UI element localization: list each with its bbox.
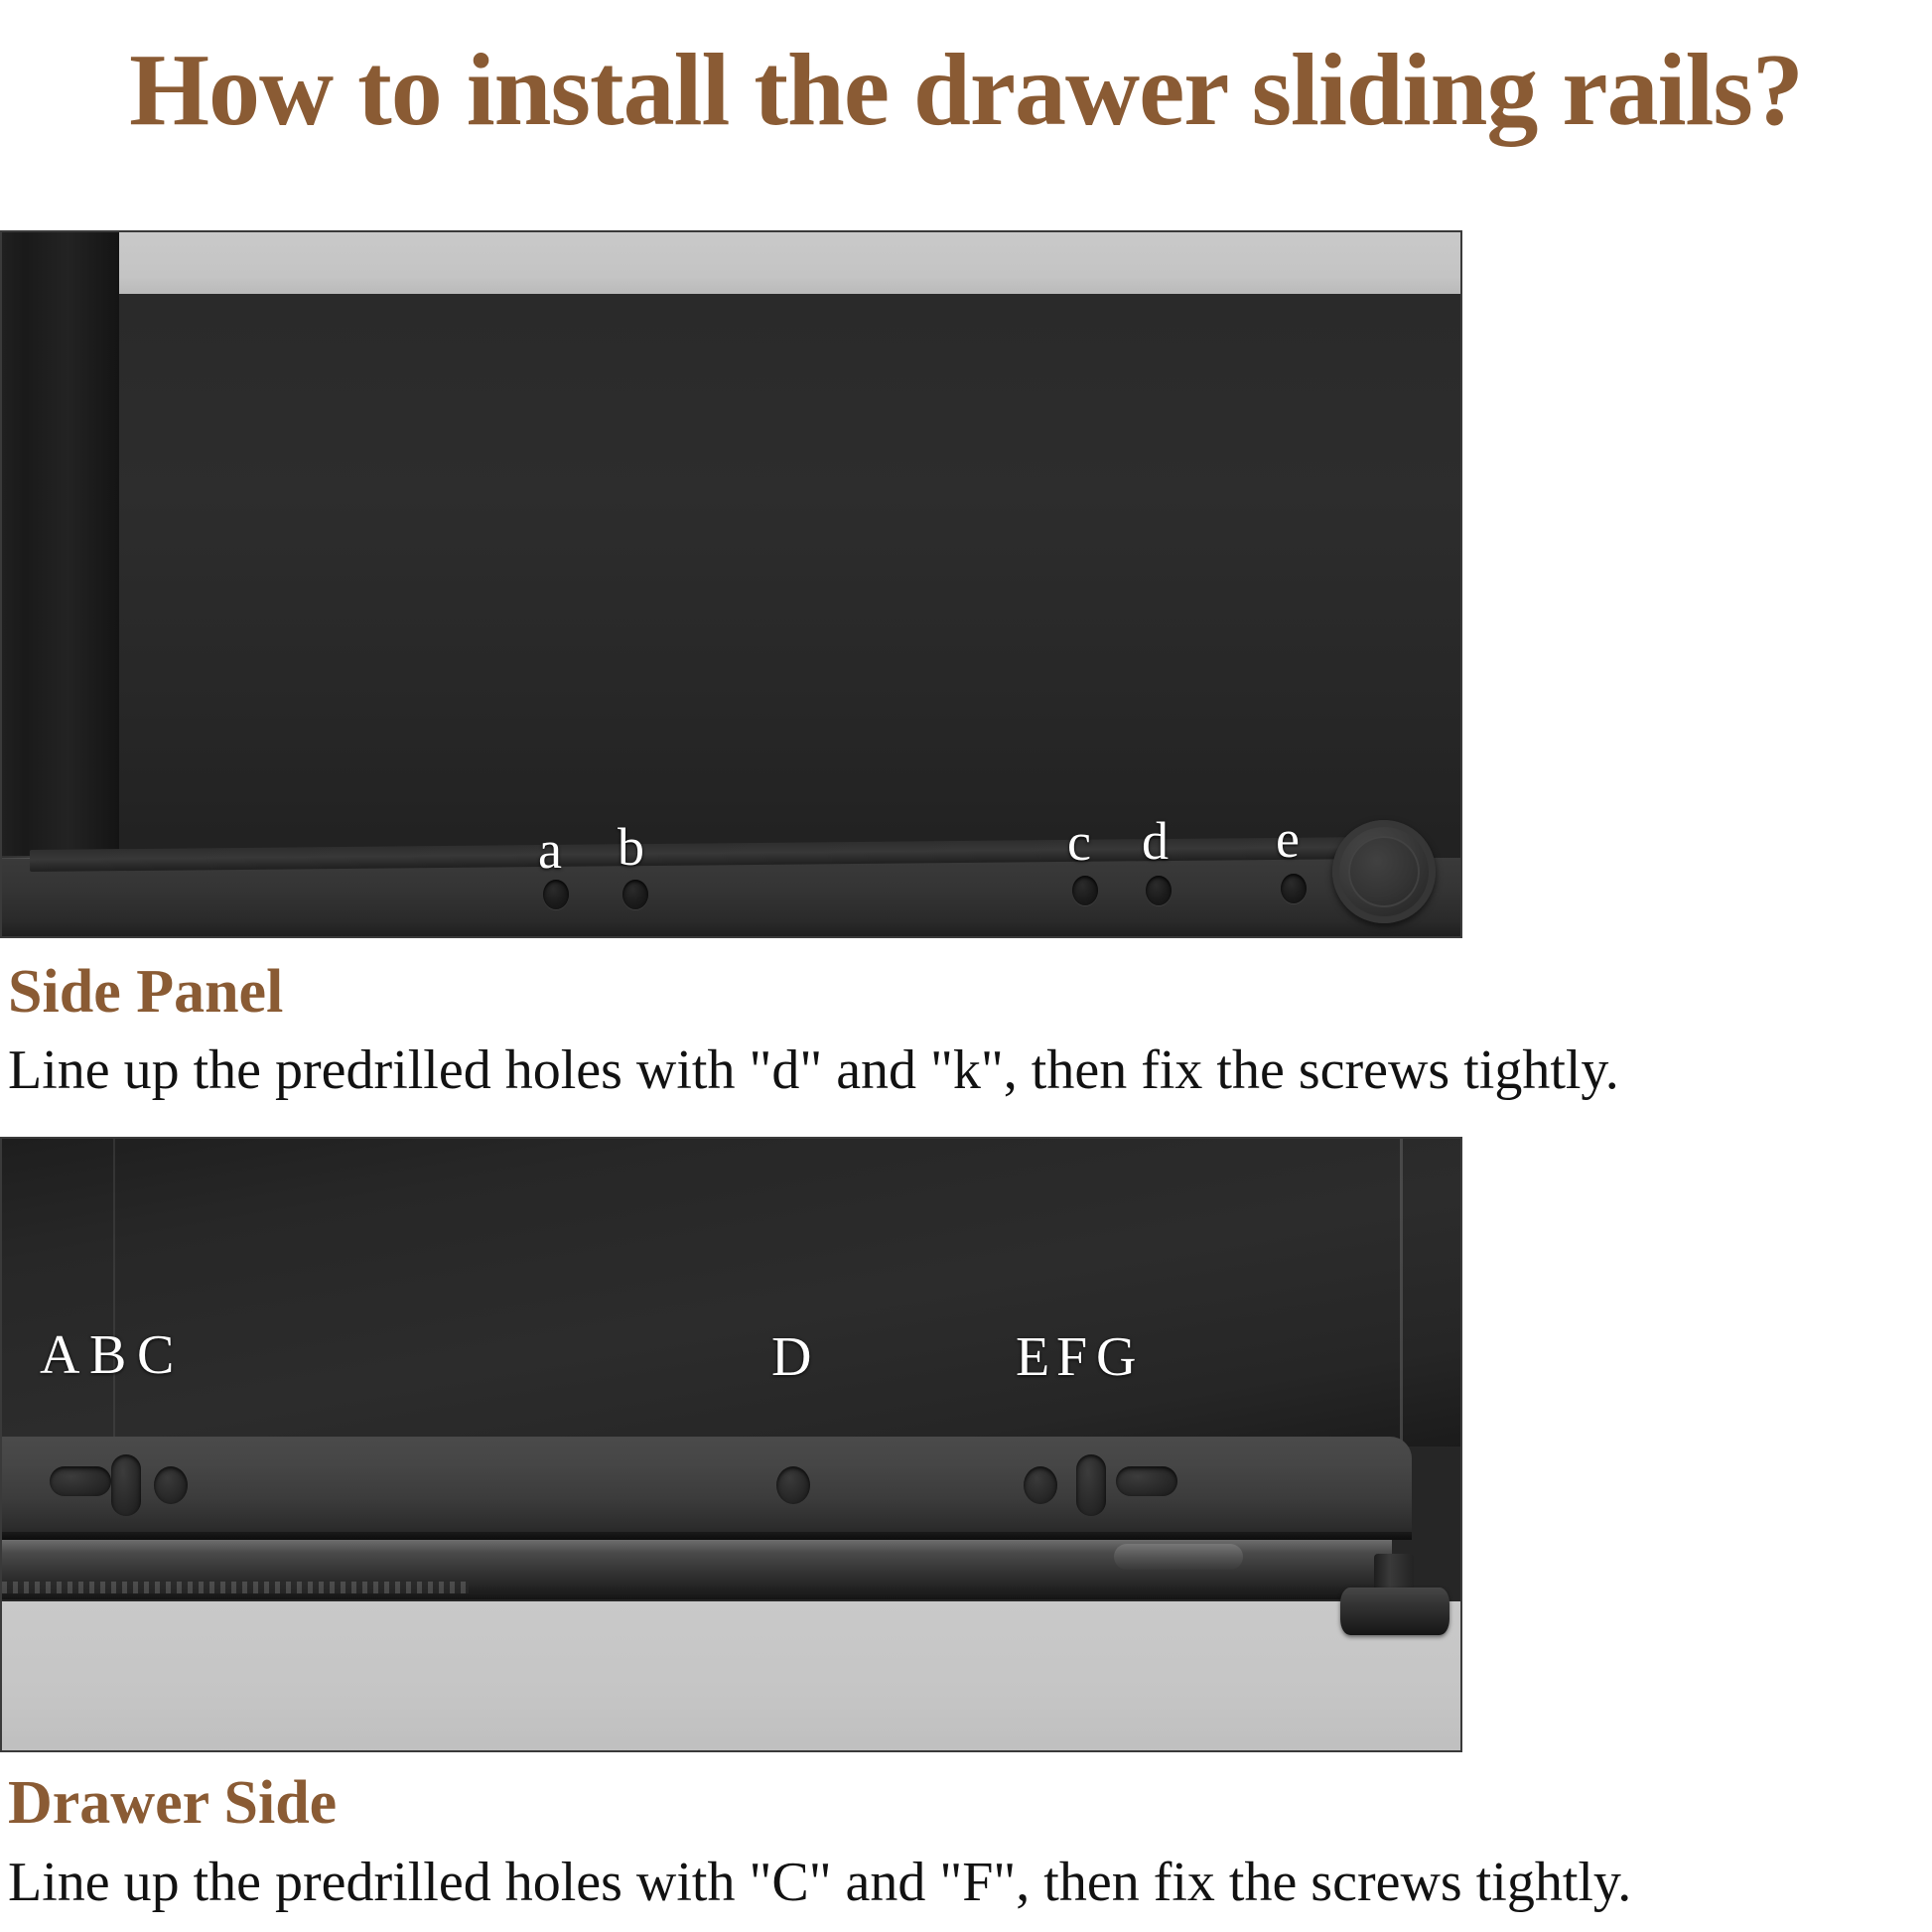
hole-label-A: A bbox=[40, 1327, 79, 1383]
predrilled-hole-B bbox=[111, 1454, 141, 1516]
predrilled-hole-c bbox=[1072, 876, 1098, 905]
predrilled-hole-a bbox=[543, 880, 569, 909]
hole-label-G: G bbox=[1096, 1329, 1136, 1385]
hole-label-b: b bbox=[618, 820, 644, 874]
bracket-shadow-line bbox=[2, 1532, 1412, 1540]
slide-rail-stopper bbox=[1114, 1544, 1243, 1570]
predrilled-hole-D bbox=[776, 1466, 810, 1504]
predrilled-hole-b bbox=[622, 880, 648, 909]
predrilled-hole-A bbox=[50, 1466, 111, 1496]
leveling-foot-pad-icon bbox=[1340, 1587, 1449, 1635]
instruction-page: How to install the drawer sliding rails?… bbox=[0, 0, 1932, 1932]
hole-label-d: d bbox=[1142, 814, 1169, 868]
hole-label-a: a bbox=[538, 823, 562, 877]
predrilled-hole-F bbox=[1076, 1454, 1106, 1516]
drawer-panel-seam-left bbox=[113, 1139, 115, 1449]
side-panel-face bbox=[119, 294, 1462, 868]
adjustable-foot-knob-icon bbox=[1332, 820, 1436, 923]
drawer-side-heading: Drawer Side bbox=[8, 1772, 337, 1834]
drawer-rail-bracket bbox=[2, 1437, 1412, 1536]
slide-rail-texture bbox=[2, 1582, 469, 1593]
hole-label-F: F bbox=[1056, 1329, 1087, 1385]
cabinet-left-post bbox=[26, 232, 119, 938]
hole-label-C: C bbox=[137, 1327, 174, 1383]
drawer-side-photo: ABCDEFG bbox=[0, 1137, 1462, 1752]
hole-label-c: c bbox=[1067, 815, 1091, 869]
predrilled-hole-C bbox=[154, 1466, 188, 1504]
predrilled-hole-e bbox=[1281, 874, 1307, 903]
drawer-side-instruction-text: Line up the predrilled holes with "C" an… bbox=[8, 1855, 1631, 1910]
predrilled-hole-d bbox=[1146, 876, 1172, 905]
drawer-panel-seam-right bbox=[1400, 1139, 1403, 1449]
drawer-side-face bbox=[2, 1139, 1462, 1447]
upper-shelf-surface bbox=[119, 232, 1462, 298]
hole-label-E: E bbox=[1016, 1329, 1049, 1385]
hole-label-e: e bbox=[1276, 812, 1300, 866]
side-panel-heading: Side Panel bbox=[8, 961, 283, 1023]
cabinet-left-edge bbox=[2, 232, 28, 938]
floor-surface bbox=[2, 1601, 1462, 1752]
predrilled-hole-E bbox=[1024, 1466, 1057, 1504]
predrilled-hole-G bbox=[1116, 1466, 1177, 1496]
side-panel-photo: abcde bbox=[0, 230, 1462, 938]
page-title: How to install the drawer sliding rails? bbox=[0, 34, 1932, 147]
hole-label-D: D bbox=[771, 1329, 811, 1385]
hole-label-B: B bbox=[89, 1327, 126, 1383]
side-panel-instruction-text: Line up the predrilled holes with "d" an… bbox=[8, 1042, 1619, 1098]
